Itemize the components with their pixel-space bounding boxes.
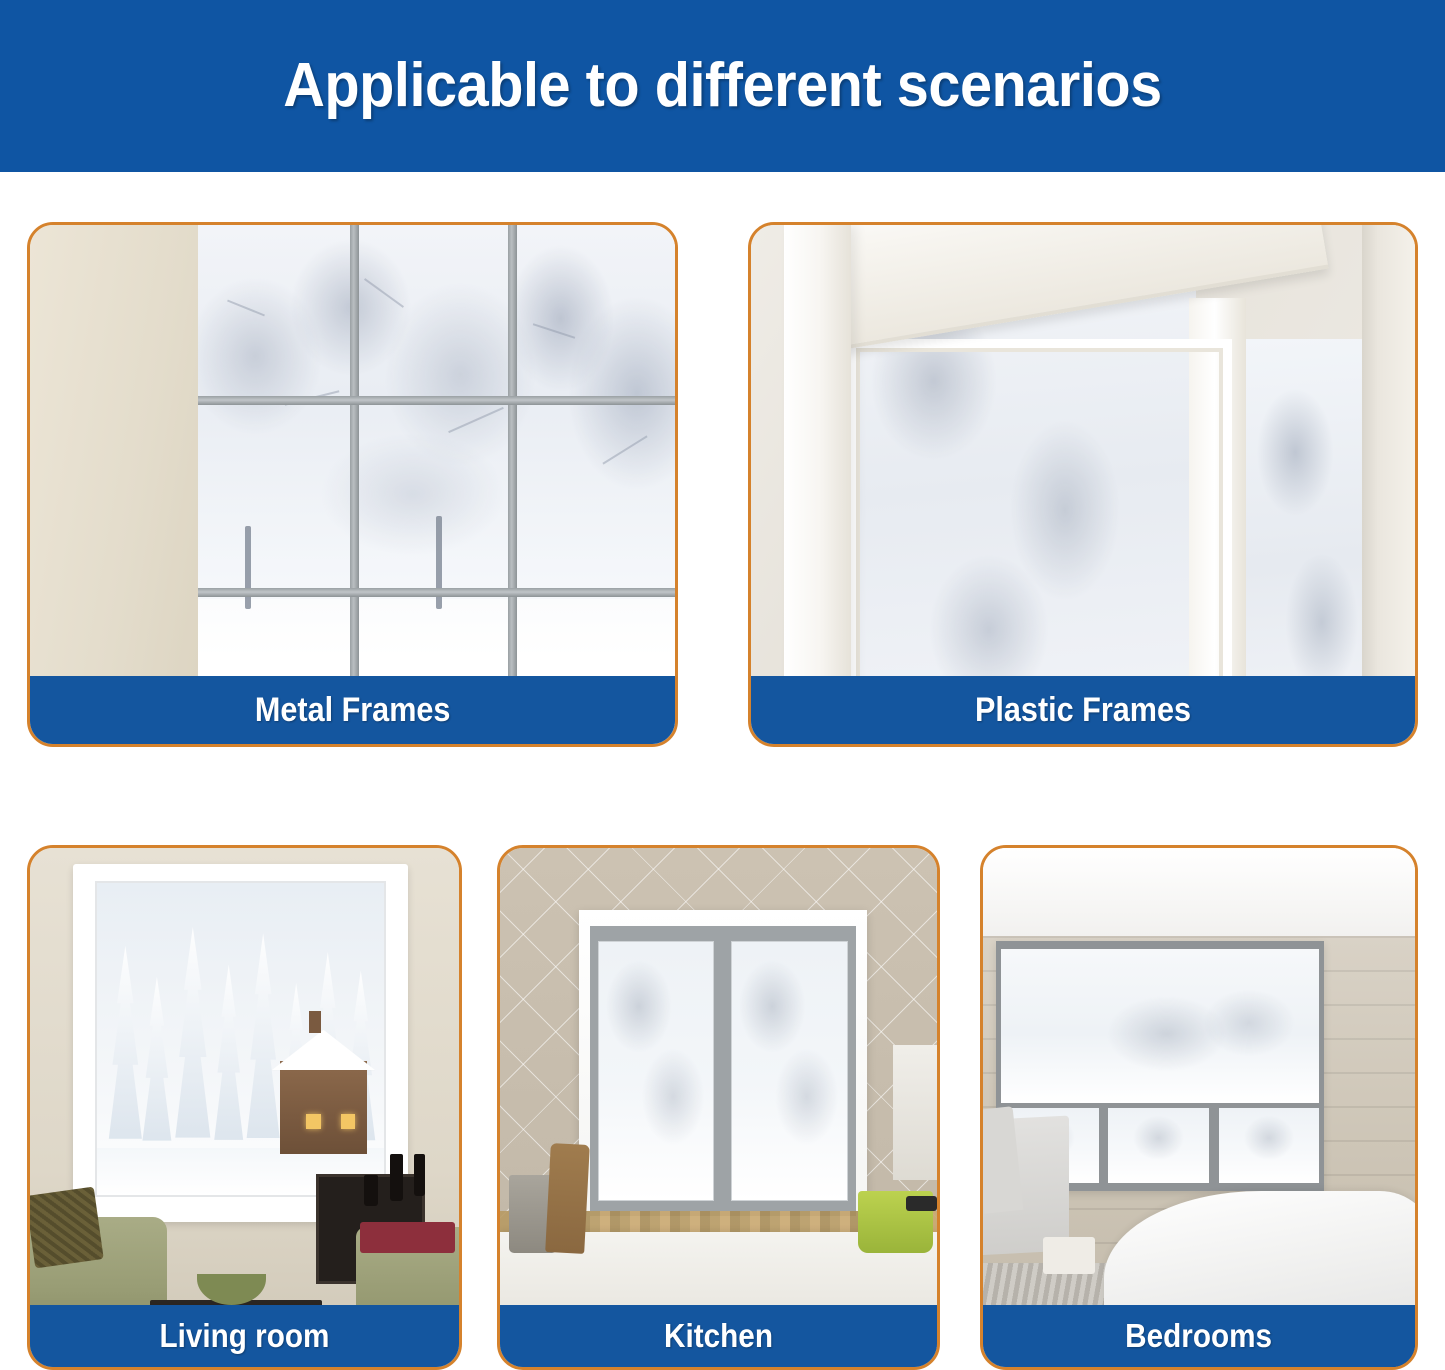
ceiling: [983, 848, 1415, 936]
card-label-text: Plastic Frames: [975, 691, 1191, 730]
scenario-card-metal-frames[interactable]: Metal Frames: [27, 222, 678, 747]
metal-frames-photo: [30, 225, 675, 744]
living-room-photo: [30, 848, 459, 1367]
window-mullion-vertical: [508, 225, 517, 744]
throw-blanket: [360, 1222, 454, 1253]
cutting-board: [545, 1143, 590, 1254]
scenario-card-bedrooms[interactable]: Bedrooms: [980, 845, 1418, 1370]
cabin-chimney: [309, 1011, 320, 1033]
window-jamb-left: [784, 225, 850, 744]
window-assembly: [198, 225, 675, 744]
living-room-scene: [30, 848, 459, 1367]
bedrooms-photo: [983, 848, 1415, 1367]
plastic-window-assembly: [751, 225, 1415, 744]
window-pane-large: [1001, 949, 1319, 1103]
window-sash: [590, 926, 855, 1216]
bedroom-scene: [983, 848, 1415, 1367]
card-label-metal-frames: Metal Frames: [30, 676, 675, 744]
card-label-text: Kitchen: [664, 1317, 773, 1355]
cushion: [30, 1186, 103, 1268]
page-title: Applicable to different scenarios: [51, 50, 1395, 121]
card-label-kitchen: Kitchen: [500, 1305, 937, 1367]
pot-handle: [906, 1196, 937, 1212]
window-mullion-horizontal: [198, 396, 675, 405]
interior-wall: [30, 225, 198, 744]
window-mullion-horizontal: [198, 588, 675, 597]
kitchen-scene: [500, 848, 937, 1367]
scenario-card-plastic-frames[interactable]: Plastic Frames: [748, 222, 1418, 747]
window-frame: [73, 864, 408, 1222]
window-jamb-right: [1362, 225, 1415, 744]
window-pane-lower-2: [1108, 1108, 1210, 1183]
card-label-text: Living room: [160, 1317, 330, 1355]
scenario-card-living-room[interactable]: Living room: [27, 845, 462, 1370]
header-banner: Applicable to different scenarios: [0, 0, 1445, 172]
card-label-plastic-frames: Plastic Frames: [751, 676, 1415, 744]
window-mullion-vertical: [350, 225, 359, 744]
footstool: [1043, 1237, 1095, 1273]
wall-cabinet: [893, 1045, 937, 1180]
window-pane-right: [731, 941, 847, 1202]
card-label-living-room: Living room: [30, 1305, 459, 1367]
scenario-card-kitchen[interactable]: Kitchen: [497, 845, 940, 1370]
window-frame: [579, 910, 867, 1232]
card-label-text: Metal Frames: [255, 691, 451, 730]
window-pane-left: [598, 941, 714, 1202]
plastic-frames-photo: [751, 225, 1415, 744]
card-label-text: Bedrooms: [1126, 1317, 1273, 1355]
window-pane-lower-3: [1219, 1108, 1319, 1183]
window-glass: [95, 881, 386, 1196]
kitchen-photo: [500, 848, 937, 1367]
log-cabin: [280, 1061, 366, 1154]
card-label-bedrooms: Bedrooms: [983, 1305, 1415, 1367]
